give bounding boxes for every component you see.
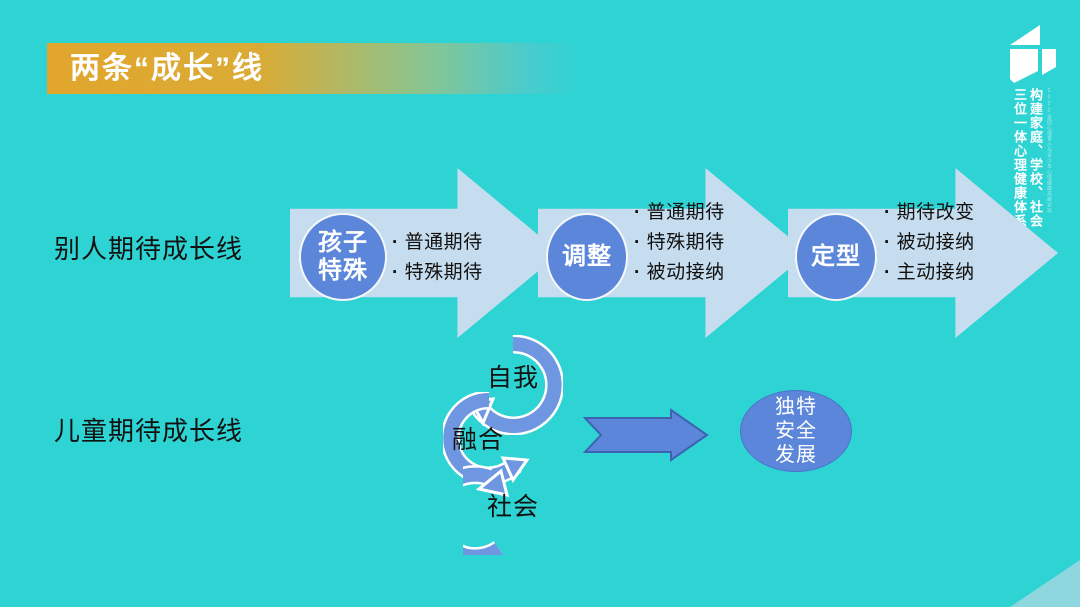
logo-vertical-text-col1: 构建家庭、学校、社会 <box>1028 88 1043 228</box>
stage-3-bullets: 期待改变 被动接纳 主动接纳 <box>884 198 975 288</box>
stage-2-bullets: 普通期待 特殊期待 被动接纳 <box>634 198 725 288</box>
transition-arrow-icon <box>583 408 709 462</box>
stage-3-bullet-1: 期待改变 <box>884 198 975 228</box>
stage-1-bullet-1: 普通期待 <box>392 228 483 258</box>
outcome-line-2: 安全 <box>775 419 817 443</box>
stage-circle-2-line1: 调整 <box>562 243 612 271</box>
track-label-child: 儿童期待成长线 <box>54 411 243 448</box>
stage-circle-1-line1: 孩子 <box>318 229 368 257</box>
logo-corner-shape <box>1010 560 1080 607</box>
stage-2-bullet-3: 被动接纳 <box>634 258 725 288</box>
outcome-line-1: 独特 <box>775 395 817 419</box>
stage-2-bullet-2: 特殊期待 <box>634 228 725 258</box>
logo-vertical-text-small: 2022全国心理育人与青少年心理健康高峰论坛 <box>1046 88 1052 218</box>
track-label-others: 别人期待成长线 <box>54 229 243 266</box>
cycle-label-self: 自我 <box>487 358 539 394</box>
stage-circle-1-line2: 特殊 <box>318 257 368 285</box>
stage-1-bullets: 普通期待 特殊期待 <box>392 228 483 288</box>
stage-circle-1: 孩子 特殊 <box>299 213 387 301</box>
stage-circle-2: 调整 <box>546 213 628 301</box>
outcome-line-3: 发展 <box>775 443 817 467</box>
stage-3-bullet-3: 主动接纳 <box>884 258 975 288</box>
slide-canvas: 两条“成长”线 构建家庭、学校、社会 三位一体心理健康体系 2022全国心理育人… <box>0 0 1080 607</box>
conference-logo-icon <box>1000 23 1058 85</box>
outcome-ellipse: 独特 安全 发展 <box>740 390 852 472</box>
stage-3-bullet-2: 被动接纳 <box>884 228 975 258</box>
cycle-label-merge: 融合 <box>452 420 504 456</box>
stage-circle-3: 定型 <box>795 213 877 301</box>
page-title: 两条“成长”线 <box>70 48 550 90</box>
logo-vertical-text-col2: 三位一体心理健康体系 <box>1012 88 1027 228</box>
stage-circle-3-line1: 定型 <box>811 243 861 271</box>
stage-2-bullet-1: 普通期待 <box>634 198 725 228</box>
logo-vertical-text: 构建家庭、学校、社会 三位一体心理健康体系 <box>1005 88 1043 228</box>
cycle-label-social: 社会 <box>487 487 539 523</box>
stage-1-bullet-2: 特殊期待 <box>392 258 483 288</box>
